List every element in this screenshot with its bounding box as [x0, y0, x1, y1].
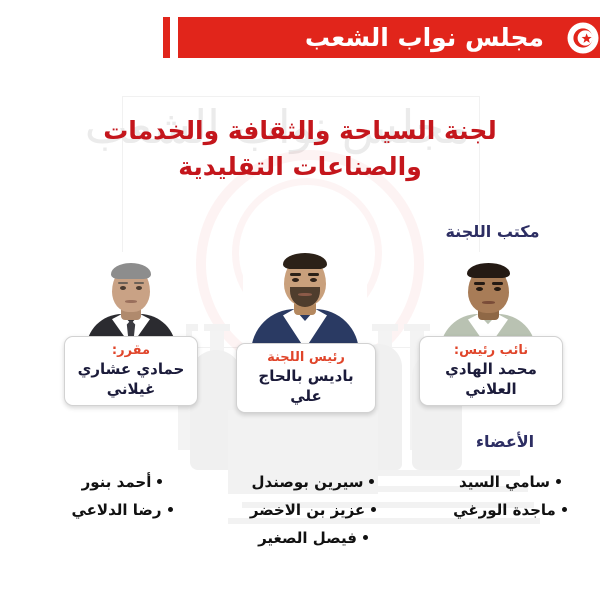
list-item: رضا الدلاعي	[52, 496, 192, 524]
banner-accent-gap	[170, 17, 178, 58]
list-item: سيرين بوصندل	[238, 468, 388, 496]
members-column-center: سيرين بوصندل عزيز بن الاخضر فيصل الصغير	[238, 468, 388, 552]
avatar-chair	[243, 243, 367, 345]
member-name: أحمد بنور	[82, 473, 152, 491]
avatar-vice-chair	[432, 252, 544, 344]
members-section-heading: الأعضاء	[430, 432, 580, 451]
member-name: سيرين بوصندل	[252, 473, 364, 491]
list-item: ماجدة الورغي	[440, 496, 580, 524]
bureau-section-heading: مكتب اللجنة	[405, 222, 580, 241]
person-name-rapporteur: حمادي عشاري غيلاني	[69, 359, 193, 399]
bullet-icon	[562, 507, 567, 512]
avatar-rapporteur	[76, 252, 186, 344]
header-banner: مجلس نواب الشعب	[178, 17, 600, 58]
member-name: رضا الدلاعي	[71, 501, 161, 519]
bullet-icon	[168, 507, 173, 512]
role-label-rapporteur: مقرر:	[69, 342, 193, 359]
member-name: ماجدة الورغي	[453, 501, 556, 519]
tunisia-flag-emblem-icon	[566, 21, 600, 55]
list-item: عزيز بن الاخضر	[238, 496, 388, 524]
name-card-rapporteur: مقرر: حمادي عشاري غيلاني	[64, 336, 198, 406]
member-name: عزيز بن الاخضر	[250, 501, 365, 519]
member-name: سامي السيد	[459, 473, 550, 491]
list-item: فيصل الصغير	[238, 524, 388, 552]
banner-accent-tick	[163, 17, 170, 58]
person-chair	[243, 243, 367, 345]
person-name-chair: باديس بالحاج علي	[241, 366, 371, 406]
bullet-icon	[371, 507, 376, 512]
infographic-root: مجلس نواب الشعب	[0, 0, 600, 600]
page-title: لجنة السياحة والثقافة والخدمات والصناعات…	[70, 113, 530, 185]
person-name-vice-chair: محمد الهادي العلاني	[424, 359, 558, 399]
header-title: مجلس نواب الشعب	[299, 23, 558, 52]
members-column-left: أحمد بنور رضا الدلاعي	[52, 468, 192, 524]
members-column-right: سامي السيد ماجدة الورغي	[440, 468, 580, 524]
list-item: أحمد بنور	[52, 468, 192, 496]
page-title-line-2: والصناعات التقليدية	[70, 149, 530, 185]
bullet-icon	[363, 535, 368, 540]
bullet-icon	[556, 479, 561, 484]
role-label-chair: رئيس اللجنة	[241, 349, 371, 366]
list-item: سامي السيد	[440, 468, 580, 496]
page-title-line-1: لجنة السياحة والثقافة والخدمات	[70, 113, 530, 149]
role-label-vice-chair: نائب رئيس:	[424, 342, 558, 359]
person-rapporteur	[76, 252, 186, 344]
member-name: فيصل الصغير	[258, 529, 357, 547]
name-card-chair: رئيس اللجنة باديس بالحاج علي	[236, 343, 376, 413]
name-card-vice-chair: نائب رئيس: محمد الهادي العلاني	[419, 336, 563, 406]
person-vice-chair	[432, 252, 544, 344]
bullet-icon	[157, 479, 162, 484]
bullet-icon	[369, 479, 374, 484]
